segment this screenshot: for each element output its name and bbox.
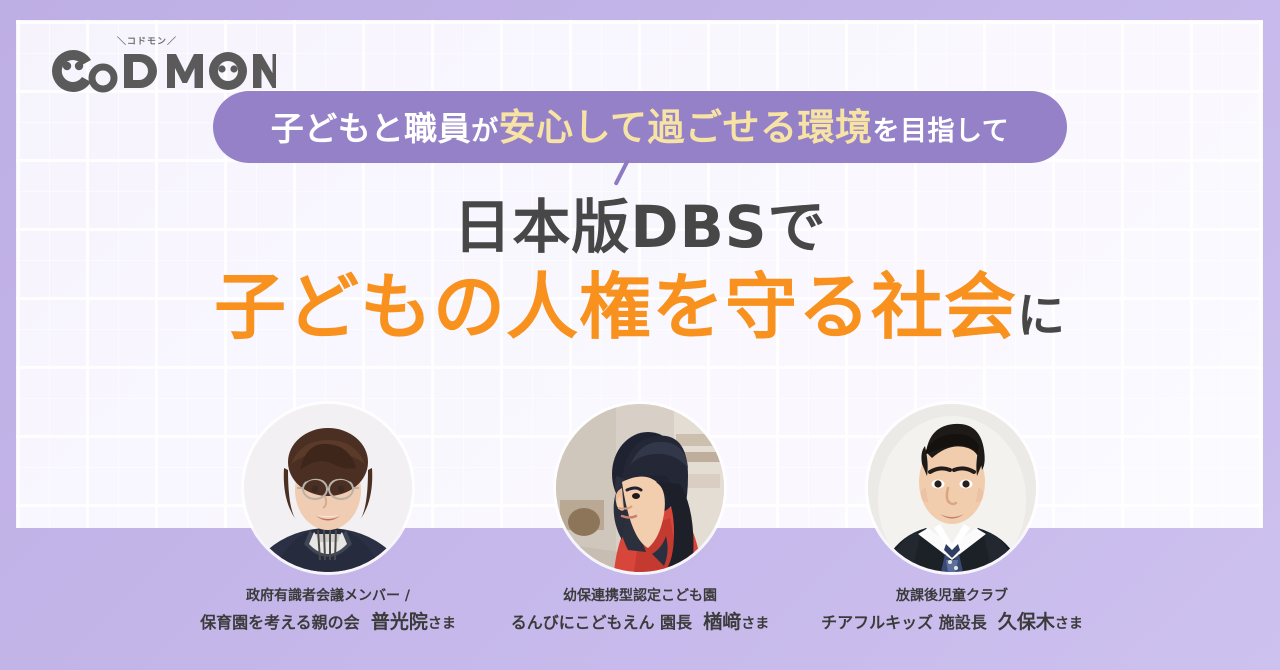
avatar — [868, 404, 1036, 572]
slide-canvas: ＼コドモン／ 子どもと職員が安心して過ごせる環境を目指して — [0, 0, 1280, 670]
speaker-org-line-1: 幼保連携型認定こども園 — [511, 586, 769, 608]
speaker-honorific: さま — [1055, 616, 1083, 632]
subtitle-highlight: 安心して過ごせる環境 — [499, 106, 873, 149]
speaker-caption: 放課後児童クラブ チアフルキッズ 施設長 久保木さま — [821, 586, 1083, 637]
speaker-org-line-2: 保育園を考える親の会 普光院さま — [200, 608, 456, 637]
avatar — [556, 404, 724, 572]
headline-line-2: 子どもの人権を守る社会に — [0, 270, 1280, 346]
speaker-name: 普光院 — [371, 611, 428, 633]
headline-block: 日本版DBSで 子どもの人権を守る社会に — [0, 197, 1280, 345]
speaker-card: 放課後児童クラブ チアフルキッズ 施設長 久保木さま — [850, 404, 1055, 637]
speaker-card: 政府有識者会議メンバー / 保育園を考える親の会 普光院さま — [226, 404, 431, 637]
subtitle-pill-text: 子どもと職員が安心して過ごせる環境を目指して — [271, 109, 1009, 146]
speaker-card: 幼保連携型認定こども園 るんびにこどもえん 園長 楢﨑さま — [538, 404, 743, 637]
portrait-man-suit-icon — [868, 404, 1036, 572]
subtitle-suffix: を目指して — [873, 116, 1010, 147]
speaker-org-line-1: 政府有識者会議メンバー / — [200, 586, 456, 608]
portrait-woman-profile-icon — [556, 404, 724, 572]
headline-line-1: 日本版DBSで — [0, 197, 1280, 258]
headline-line-2-main: 子どもの人権を守る社会 — [214, 265, 1017, 349]
codmon-logo[interactable]: ＼コドモン／ — [46, 34, 276, 94]
speaker-org-text: 保育園を考える親の会 — [200, 613, 360, 632]
subtitle-particle: が — [471, 116, 499, 147]
speaker-caption: 幼保連携型認定こども園 るんびにこどもえん 園長 楢﨑さま — [511, 586, 769, 637]
speaker-org-text: るんびにこどもえん 園長 — [511, 613, 692, 632]
speaker-org-line-2: チアフルキッズ 施設長 久保木さま — [821, 608, 1083, 637]
speaker-name: 楢﨑 — [703, 611, 741, 633]
logo-tick-left: ＼ — [117, 34, 127, 47]
speaker-name: 久保木 — [998, 611, 1055, 633]
codmon-wordmark-svg — [46, 48, 276, 94]
speaker-org-line-1: 放課後児童クラブ — [821, 586, 1083, 608]
avatar — [244, 404, 412, 572]
speaker-org-line-2: るんびにこどもえん 園長 楢﨑さま — [511, 608, 769, 637]
speaker-org-text: チアフルキッズ 施設長 — [821, 613, 987, 632]
speakers-row: 政府有識者会議メンバー / 保育園を考える親の会 普光院さま — [0, 404, 1280, 637]
subtitle-pill-banner: 子どもと職員が安心して過ごせる環境を目指して — [213, 91, 1067, 163]
headline-line-2-tail: に — [1017, 288, 1066, 344]
portrait-woman-glasses-icon — [244, 404, 412, 572]
speaker-caption: 政府有識者会議メンバー / 保育園を考える親の会 普光院さま — [200, 586, 456, 637]
speaker-honorific: さま — [741, 616, 769, 632]
logo-kana-label: ＼コドモン／ — [102, 34, 192, 47]
speaker-honorific: さま — [428, 616, 456, 632]
subtitle-prefix: 子どもと職員 — [271, 109, 471, 148]
logo-tick-right: ／ — [167, 34, 177, 47]
